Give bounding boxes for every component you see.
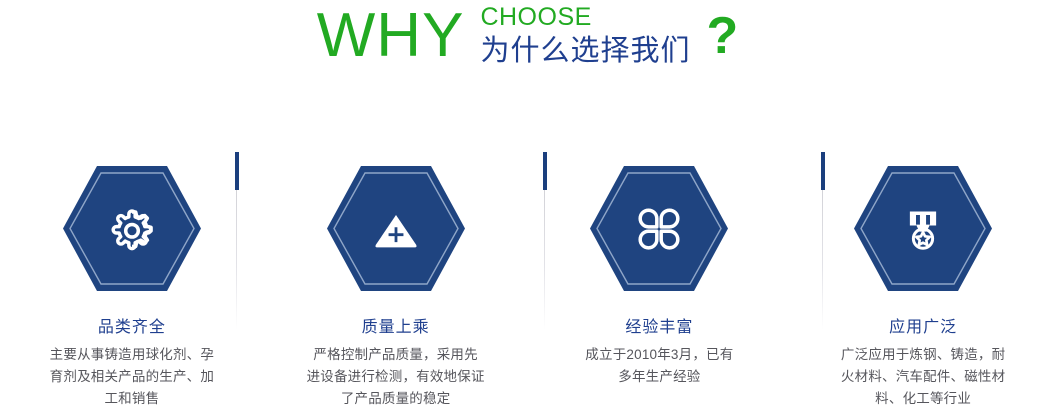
- card-description-line: 育剂及相关产品的生产、加: [29, 366, 234, 388]
- card-description-line: 严格控制产品质量，采用先: [293, 344, 498, 366]
- feature-card: 品类齐全 主要从事铸造用球化剂、孕 育剂及相关产品的生产、加 工和销售: [0, 140, 264, 416]
- card-divider: [543, 140, 547, 416]
- card-title: 品类齐全: [98, 318, 166, 338]
- card-title: 质量上乘: [362, 318, 430, 338]
- card-description-line: 多年生产经验: [557, 366, 762, 388]
- feature-card: 质量上乘 严格控制产品质量，采用先 进设备进行检测，有效地保证 了产品质量的稳定: [264, 140, 528, 416]
- card-description: 严格控制产品质量，采用先 进设备进行检测，有效地保证 了产品质量的稳定: [293, 344, 498, 410]
- card-description-line: 料、化工等行业: [821, 388, 1026, 410]
- feature-card-list: 品类齐全 主要从事铸造用球化剂、孕 育剂及相关产品的生产、加 工和销售 质量上乘: [0, 140, 1055, 416]
- hexagon-badge: [853, 165, 993, 292]
- card-description: 主要从事铸造用球化剂、孕 育剂及相关产品的生产、加 工和销售: [29, 344, 234, 410]
- card-description-line: 火材料、汽车配件、磁性材: [821, 366, 1026, 388]
- divider-tail: [544, 190, 545, 330]
- why-choose-us-section: WHY CHOOSE 为什么选择我们 ?: [0, 0, 1055, 416]
- heading-choose: CHOOSE: [480, 4, 690, 31]
- card-description: 成立于2010年3月，已有 多年生产经验: [557, 344, 762, 388]
- card-divider: [235, 140, 239, 416]
- card-description-line: 广泛应用于炼钢、铸造，耐: [821, 344, 1026, 366]
- heading-why: WHY: [317, 2, 465, 70]
- card-description-line: 主要从事铸造用球化剂、孕: [29, 344, 234, 366]
- card-description-line: 进设备进行检测，有效地保证: [293, 366, 498, 388]
- medal-icon: [895, 201, 951, 257]
- hexagon-badge: [326, 165, 466, 292]
- card-description-line: 了产品质量的稳定: [293, 388, 498, 410]
- clover-icon: [631, 201, 687, 257]
- card-description-line: 成立于2010年3月，已有: [557, 344, 762, 366]
- section-heading: WHY CHOOSE 为什么选择我们 ?: [0, 0, 1055, 92]
- triangle-plus-icon: [368, 201, 424, 257]
- card-title: 经验丰富: [625, 318, 693, 338]
- heading-chinese: 为什么选择我们: [480, 34, 690, 68]
- feature-card: 经验丰富 成立于2010年3月，已有 多年生产经验: [528, 140, 792, 416]
- card-divider: [821, 140, 825, 416]
- card-description: 广泛应用于炼钢、铸造，耐 火材料、汽车配件、磁性材 料、化工等行业: [821, 344, 1026, 410]
- card-title: 应用广泛: [889, 318, 957, 338]
- divider-cap: [543, 152, 547, 190]
- card-description-line: 工和销售: [29, 388, 234, 410]
- heading-question-mark: ?: [706, 8, 738, 70]
- divider-tail: [236, 190, 237, 330]
- divider-cap: [235, 152, 239, 190]
- divider-cap: [821, 152, 825, 190]
- divider-tail: [822, 190, 823, 330]
- feature-card: 应用广泛 广泛应用于炼钢、铸造，耐 火材料、汽车配件、磁性材 料、化工等行业: [791, 140, 1055, 416]
- hexagon-badge: [589, 165, 729, 292]
- hexagon-badge: [62, 165, 202, 292]
- gear-icon: [104, 201, 160, 257]
